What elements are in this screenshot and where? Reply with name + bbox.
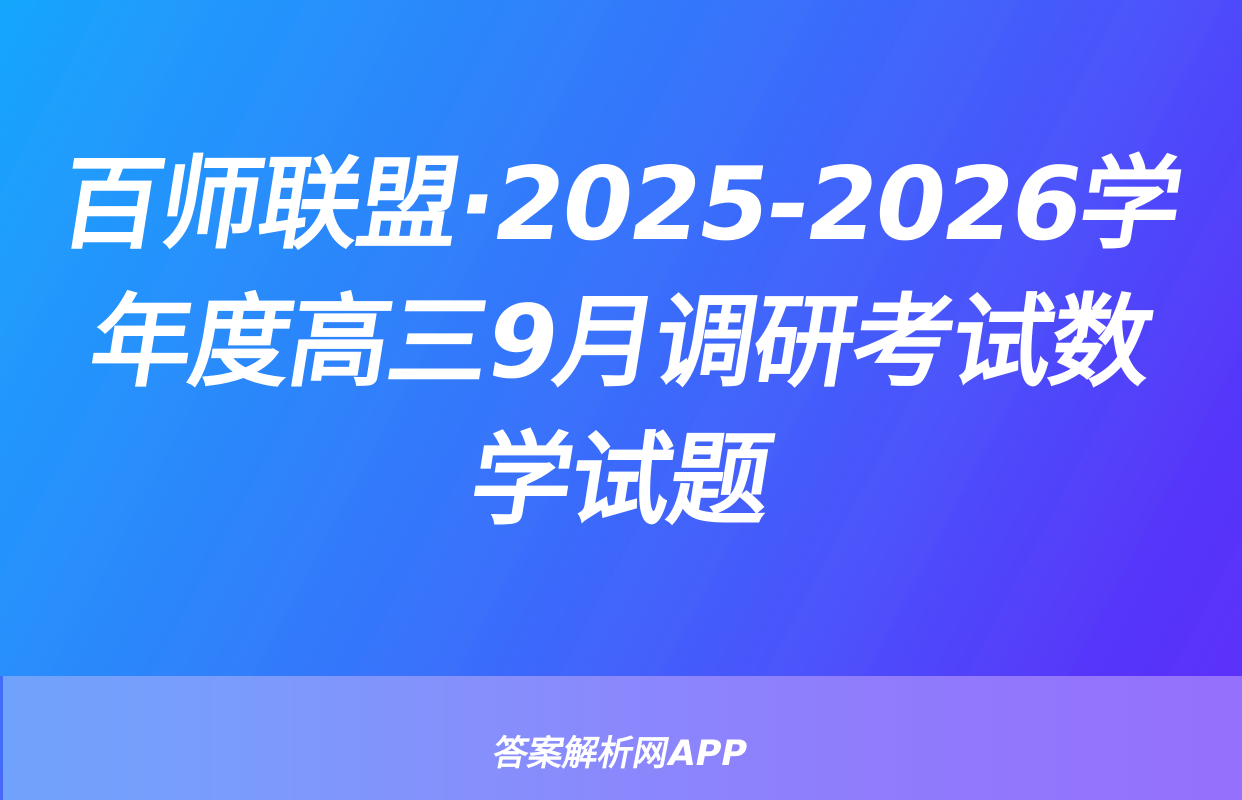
footer-left-edge-accent [0, 676, 3, 800]
exam-paper-cover-poster: 百师联盟·2025-2026学 年度高三9月调研考试数 学试题 答案解析网APP [0, 0, 1242, 800]
title-line-3: 学试题 [462, 411, 781, 549]
footer-brand-band: 答案解析网APP [0, 676, 1242, 800]
title-line-1: 百师联盟·2025-2026学 [51, 135, 1190, 273]
title-line-2: 年度高三9月调研考试数 [81, 273, 1161, 411]
brand-watermark-text: 答案解析网APP [489, 725, 752, 776]
exam-title-block: 百师联盟·2025-2026学 年度高三9月调研考试数 学试题 [0, 0, 1242, 676]
